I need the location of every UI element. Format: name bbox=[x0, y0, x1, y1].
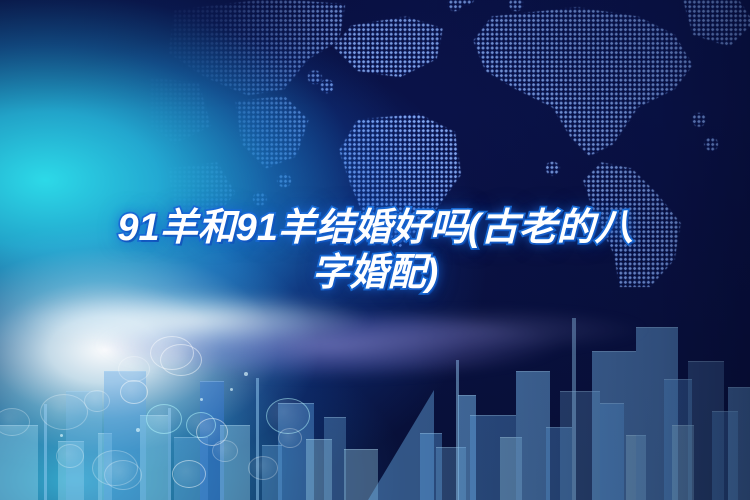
city-skyline-silhouette bbox=[0, 280, 750, 500]
page-title: 91羊和91羊结婚好吗(古老的八 字婚配) bbox=[0, 206, 750, 296]
headline-line-2: 字婚配) bbox=[0, 251, 750, 296]
headline-line-1: 91羊和91羊结婚好吗(古老的八 bbox=[0, 206, 750, 251]
banner-image: 91羊和91羊结婚好吗(古老的八 字婚配) bbox=[0, 0, 750, 500]
